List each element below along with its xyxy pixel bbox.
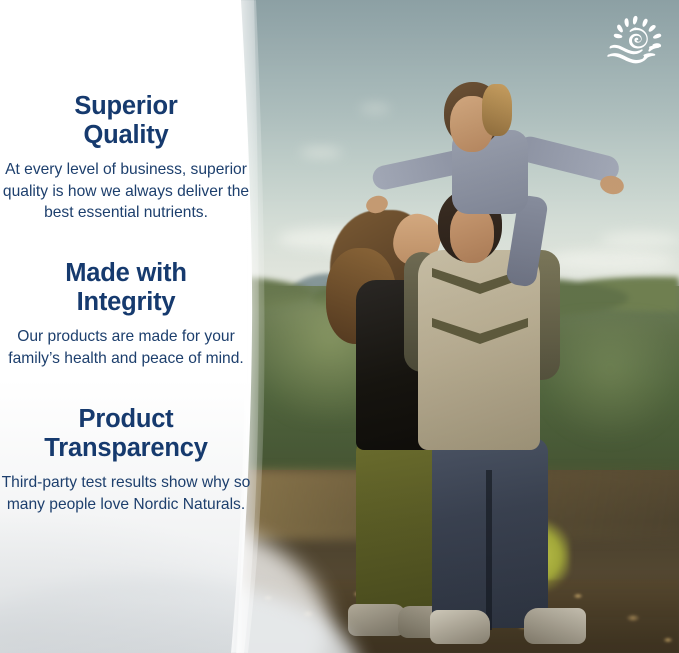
block-heading-line2: Integrity (77, 288, 176, 316)
value-block-made-with-integrity: Made withIntegrity Our products are made… (0, 259, 252, 369)
cloud (600, 232, 679, 248)
promo-banner: SuperiorQuality At every level of busine… (0, 0, 679, 653)
man-shoe (524, 608, 586, 644)
block-heading-line2: Quality (83, 121, 168, 149)
child-hair-strand (482, 84, 512, 136)
panel-content: SuperiorQuality At every level of busine… (0, 0, 252, 653)
cloud (360, 105, 390, 112)
sun-wave-logo-icon (604, 14, 666, 68)
man-jeans-seam (486, 470, 492, 630)
block-heading: Made withIntegrity (0, 259, 252, 317)
block-heading-line1: Superior (74, 92, 177, 120)
block-body: Our products are made for your family’s … (0, 326, 252, 369)
block-heading: ProductTransparency (0, 405, 252, 463)
cloud (300, 148, 342, 157)
value-block-superior-quality: SuperiorQuality At every level of busine… (0, 92, 252, 224)
man-shoe (430, 610, 490, 644)
block-heading-line2: Transparency (44, 434, 207, 462)
value-block-product-transparency: ProductTransparency Third-party test res… (0, 405, 252, 515)
block-heading-line1: Product (79, 405, 174, 433)
brand-logo (604, 14, 666, 68)
block-body: At every level of business, superior qua… (0, 159, 252, 224)
block-body: Third-party test results show why so man… (0, 472, 252, 515)
block-heading: SuperiorQuality (0, 92, 252, 150)
block-heading-line1: Made with (65, 259, 186, 287)
